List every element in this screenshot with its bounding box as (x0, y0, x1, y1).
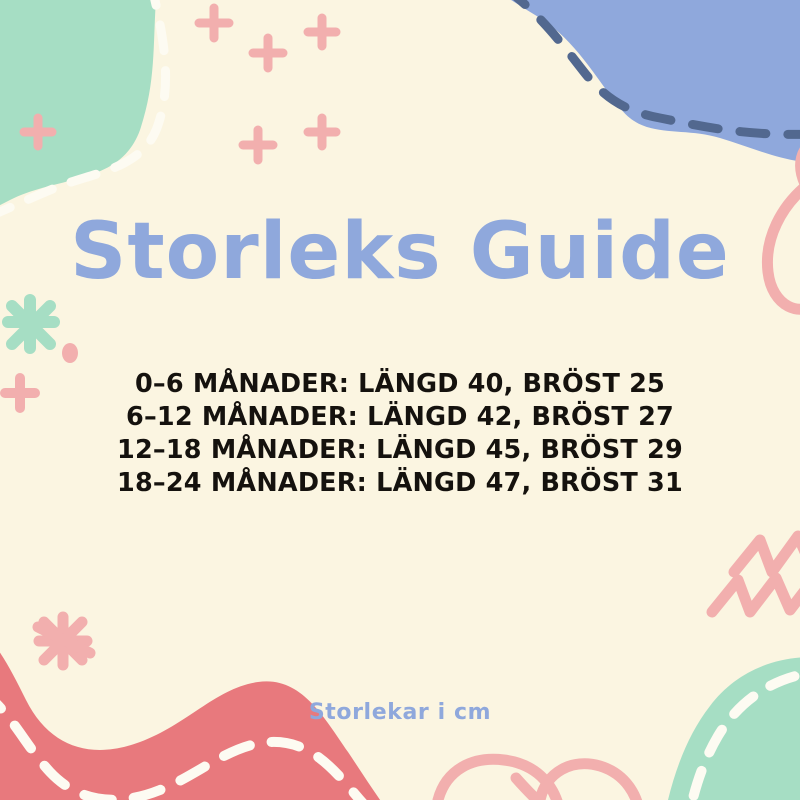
size-guide-list: 0–6 MÅNADER: LÄNGD 40, BRÖST 25 6–12 MÅN… (0, 368, 800, 500)
size-guide-row: 0–6 MÅNADER: LÄNGD 40, BRÖST 25 (0, 368, 800, 401)
size-guide-row: 6–12 MÅNADER: LÄNGD 42, BRÖST 27 (0, 401, 800, 434)
size-guide-poster: Storleks Guide 0–6 MÅNADER: LÄNGD 40, BR… (0, 0, 800, 800)
unit-note: Storlekar i cm (0, 700, 800, 725)
poster-content: Storleks Guide 0–6 MÅNADER: LÄNGD 40, BR… (0, 0, 800, 800)
page-title: Storleks Guide (0, 210, 800, 296)
size-guide-row: 12–18 MÅNADER: LÄNGD 45, BRÖST 29 (0, 434, 800, 467)
size-guide-row: 18–24 MÅNADER: LÄNGD 47, BRÖST 31 (0, 467, 800, 500)
